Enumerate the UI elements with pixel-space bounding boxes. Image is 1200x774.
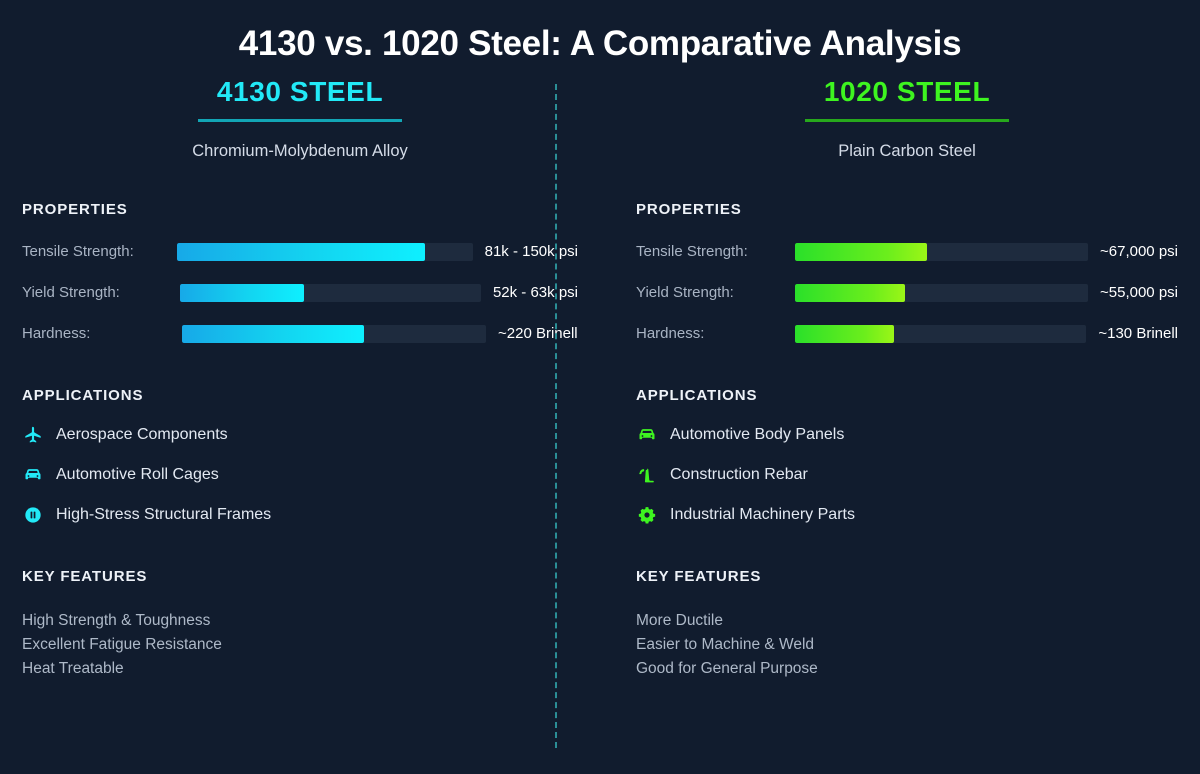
column-rule-left: [198, 119, 402, 122]
pause-circle-icon: [22, 504, 44, 526]
application-label: Automotive Roll Cages: [56, 466, 219, 484]
features-list-left: High Strength & Toughness Excellent Fati…: [22, 609, 578, 681]
gear-icon: [636, 504, 658, 526]
property-bar-fill: [795, 284, 905, 302]
property-bar-track: [180, 284, 481, 302]
column-subtitle-left: Chromium-Molybdenum Alloy: [22, 142, 578, 161]
page-title: 4130 vs. 1020 Steel: A Comparative Analy…: [0, 0, 1200, 64]
features-heading-right: KEY FEATURES: [636, 568, 1178, 585]
property-row: Yield Strength: 52k - 63k psi: [22, 279, 578, 306]
property-bar-track: [177, 243, 472, 261]
application-item: Construction Rebar: [636, 464, 1178, 486]
property-label: Tensile Strength:: [636, 243, 795, 260]
property-bar-track: [795, 243, 1088, 261]
features-heading-left: KEY FEATURES: [22, 568, 578, 585]
feature-item: Easier to Machine & Weld: [636, 633, 1178, 657]
comparison-columns: 4130 STEEL Chromium-Molybdenum Alloy PRO…: [0, 76, 1200, 681]
property-bar-track: [795, 284, 1088, 302]
application-label: Automotive Body Panels: [670, 426, 844, 444]
property-bar-fill: [795, 243, 927, 261]
feature-item: High Strength & Toughness: [22, 609, 578, 633]
column-title-right: 1020 STEEL: [824, 76, 990, 114]
application-item: Aerospace Components: [22, 424, 578, 446]
property-value: ~55,000 psi: [1100, 284, 1178, 301]
feature-item: Excellent Fatigue Resistance: [22, 633, 578, 657]
property-bar-track: [795, 325, 1087, 343]
application-label: Industrial Machinery Parts: [670, 506, 855, 524]
column-header-left: 4130 STEEL Chromium-Molybdenum Alloy: [22, 76, 578, 161]
crane-hook-icon: [636, 464, 658, 486]
properties-list-left: Tensile Strength: 81k - 150k psi Yield S…: [22, 238, 578, 347]
properties-heading-left: PROPERTIES: [22, 201, 578, 218]
property-bar-fill: [180, 284, 303, 302]
applications-list-right: Automotive Body Panels Construction Reba…: [636, 424, 1178, 526]
properties-heading-right: PROPERTIES: [636, 201, 1178, 218]
property-bar-fill: [182, 325, 364, 343]
features-list-right: More Ductile Easier to Machine & Weld Go…: [636, 609, 1178, 681]
property-row: Tensile Strength: ~67,000 psi: [636, 238, 1178, 265]
property-value: 81k - 150k psi: [485, 243, 578, 260]
car-front-icon: [636, 424, 658, 446]
feature-item: Good for General Purpose: [636, 657, 1178, 681]
applications-heading-left: APPLICATIONS: [22, 387, 578, 404]
application-label: High-Stress Structural Frames: [56, 506, 271, 524]
property-label: Yield Strength:: [22, 284, 180, 301]
applications-list-left: Aerospace Components Automotive Roll Cag…: [22, 424, 578, 526]
property-value: ~130 Brinell: [1098, 325, 1178, 342]
property-label: Yield Strength:: [636, 284, 795, 301]
properties-list-right: Tensile Strength: ~67,000 psi Yield Stre…: [636, 238, 1178, 347]
property-bar-fill: [795, 325, 894, 343]
application-label: Aerospace Components: [56, 426, 228, 444]
property-label: Tensile Strength:: [22, 243, 177, 260]
property-row: Tensile Strength: 81k - 150k psi: [22, 238, 578, 265]
application-label: Construction Rebar: [670, 466, 808, 484]
applications-heading-right: APPLICATIONS: [636, 387, 1178, 404]
car-front-icon: [22, 464, 44, 486]
column-rule-right: [805, 119, 1009, 122]
column-1020-steel: 1020 STEEL Plain Carbon Steel PROPERTIES…: [600, 76, 1200, 681]
column-title-left: 4130 STEEL: [217, 76, 383, 114]
property-value: 52k - 63k psi: [493, 284, 578, 301]
application-item: Automotive Body Panels: [636, 424, 1178, 446]
application-item: Automotive Roll Cages: [22, 464, 578, 486]
column-header-right: 1020 STEEL Plain Carbon Steel: [636, 76, 1178, 161]
property-row: Hardness: ~130 Brinell: [636, 320, 1178, 347]
property-value: ~67,000 psi: [1100, 243, 1178, 260]
airplane-icon: [22, 424, 44, 446]
property-bar-fill: [177, 243, 425, 261]
column-4130-steel: 4130 STEEL Chromium-Molybdenum Alloy PRO…: [0, 76, 600, 681]
property-row: Yield Strength: ~55,000 psi: [636, 279, 1178, 306]
center-divider: [555, 84, 557, 748]
feature-item: Heat Treatable: [22, 657, 578, 681]
property-value: ~220 Brinell: [498, 325, 578, 342]
property-row: Hardness: ~220 Brinell: [22, 320, 578, 347]
column-subtitle-right: Plain Carbon Steel: [636, 142, 1178, 161]
feature-item: More Ductile: [636, 609, 1178, 633]
property-bar-track: [182, 325, 486, 343]
application-item: Industrial Machinery Parts: [636, 504, 1178, 526]
property-label: Hardness:: [636, 325, 795, 342]
application-item: High-Stress Structural Frames: [22, 504, 578, 526]
property-label: Hardness:: [22, 325, 182, 342]
